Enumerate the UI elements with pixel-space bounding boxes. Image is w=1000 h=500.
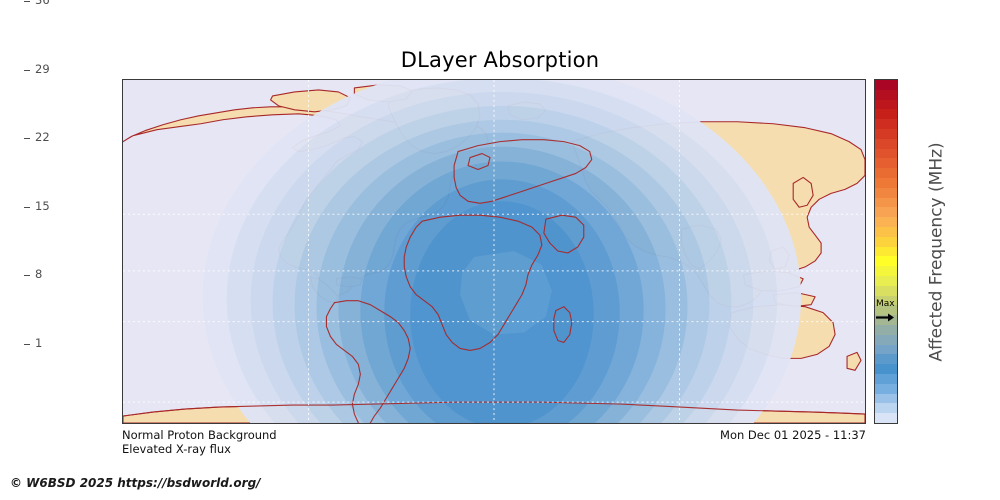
colorbar-tick-value: 8 — [35, 269, 42, 281]
colorbar-axis-label-text: Affected Frequency (MHz) — [927, 142, 947, 361]
proton-status-text: Normal Proton Background — [122, 428, 277, 442]
timestamp-caption: Mon Dec 01 2025 - 11:37 — [566, 428, 866, 442]
colorbar-band — [875, 139, 897, 149]
status-captions: Normal Proton Background Elevated X-ray … — [122, 428, 277, 456]
colorbar-tick-value: 22 — [35, 132, 50, 144]
colorbar-band — [875, 109, 897, 119]
colorbar-tick-value: 36 — [35, 0, 50, 7]
map-canvas — [123, 80, 865, 423]
colorbar-band — [875, 403, 897, 413]
colorbar-band — [875, 217, 897, 227]
world-map-plot[interactable] — [122, 79, 866, 424]
colorbar-band — [875, 227, 897, 237]
colorbar-band — [875, 276, 897, 286]
colorbar-tick-value: 15 — [35, 201, 50, 213]
colorbar-band — [875, 119, 897, 129]
colorbar-band — [875, 296, 897, 306]
timestamp-text: Mon Dec 01 2025 - 11:37 — [566, 428, 866, 442]
colorbar-tick-value: 1 — [35, 338, 42, 350]
absorption-contours — [203, 80, 801, 423]
colorbar-band — [875, 374, 897, 384]
colorbar-tick-dash — [24, 207, 30, 208]
colorbar-band — [875, 90, 897, 100]
colorbar-band — [875, 315, 897, 325]
colorbar-band — [875, 237, 897, 247]
colorbar-band — [875, 394, 897, 404]
page-title: DLayer Absorption — [0, 48, 1000, 72]
colorbar-band — [875, 286, 897, 296]
colorbar[interactable]: Max — [874, 79, 898, 424]
colorbar-band — [875, 207, 897, 217]
colorbar-band — [875, 158, 897, 168]
colorbar-band — [875, 384, 897, 394]
colorbar-tick-value: 29 — [35, 64, 50, 76]
colorbar-band — [875, 149, 897, 159]
colorbar-band — [875, 413, 897, 423]
colorbar-band — [875, 354, 897, 364]
colorbar-band — [875, 335, 897, 345]
colorbar-tick-dash — [24, 70, 30, 71]
colorbar-gradient — [874, 79, 898, 424]
colorbar-tick-dash — [24, 344, 30, 345]
colorbar-band — [875, 168, 897, 178]
colorbar-tick-dash — [24, 275, 30, 276]
colorbar-band — [875, 266, 897, 276]
colorbar-band — [875, 305, 897, 315]
colorbar-band — [875, 364, 897, 374]
colorbar-band — [875, 247, 897, 257]
colorbar-band — [875, 178, 897, 188]
colorbar-tick-labels: 3629221581 — [24, 0, 84, 345]
colorbar-band — [875, 100, 897, 110]
colorbar-band — [875, 256, 897, 266]
colorbar-band — [875, 80, 897, 90]
colorbar-band — [875, 325, 897, 335]
colorbar-band — [875, 198, 897, 208]
footer-credit: © W6BSD 2025 https://bsdworld.org/ — [10, 476, 261, 490]
colorbar-band — [875, 345, 897, 355]
colorbar-tick-dash — [24, 1, 30, 2]
colorbar-band — [875, 188, 897, 198]
colorbar-band — [875, 129, 897, 139]
xray-status-text: Elevated X-ray flux — [122, 442, 277, 456]
colorbar-axis-label: Affected Frequency (MHz) — [925, 79, 949, 424]
colorbar-tick-dash — [24, 138, 30, 139]
